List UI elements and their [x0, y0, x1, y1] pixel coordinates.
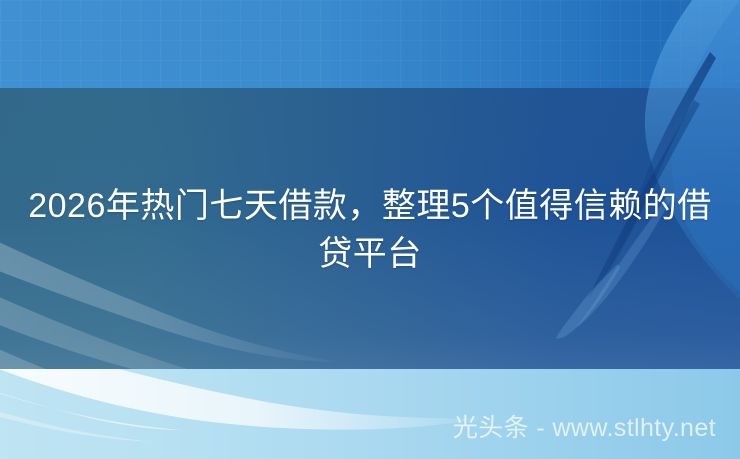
background-band-top	[0, 0, 740, 88]
article-cover-banner: 2026年热门七天借款，整理5个值得信赖的借贷平台 光头条 - www.stlh…	[0, 0, 740, 459]
page-title: 2026年热门七天借款，整理5个值得信赖的借贷平台	[0, 182, 740, 278]
grid-texture-overlay	[0, 0, 740, 88]
site-watermark: 光头条 - www.stlhty.net	[453, 412, 716, 444]
